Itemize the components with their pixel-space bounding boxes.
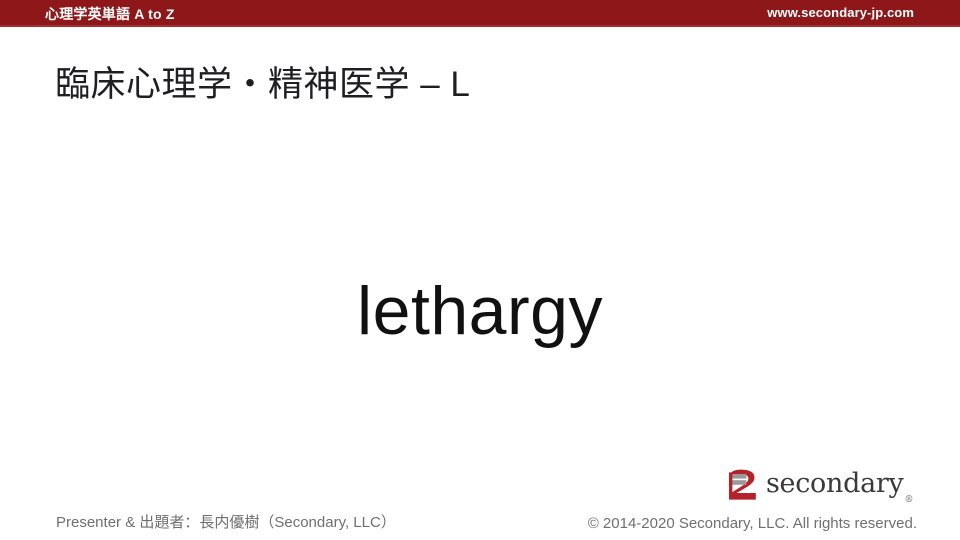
header-website-url: www.secondary-jp.com: [767, 5, 914, 20]
books-2-icon: [727, 469, 761, 501]
slide-title: 臨床心理学・精神医学 – L: [55, 56, 470, 107]
vocabulary-word: lethargy: [0, 277, 960, 345]
footer-copyright: © 2014-2020 Secondary, LLC. All rights r…: [588, 515, 917, 532]
header-series-title: 心理学英単語 A to Z: [45, 4, 175, 24]
footer-presenter: Presenter & 出題者：長内優樹（Secondary, LLC）: [56, 511, 396, 532]
logo-wordmark: secondary®: [766, 470, 912, 501]
secondary-logo: secondary®: [727, 466, 913, 504]
logo-wordmark-text: secondary: [766, 468, 903, 499]
registered-trademark-icon: ®: [904, 495, 913, 505]
header-bar: 心理学英単語 A to Z www.secondary-jp.com: [0, 0, 960, 27]
